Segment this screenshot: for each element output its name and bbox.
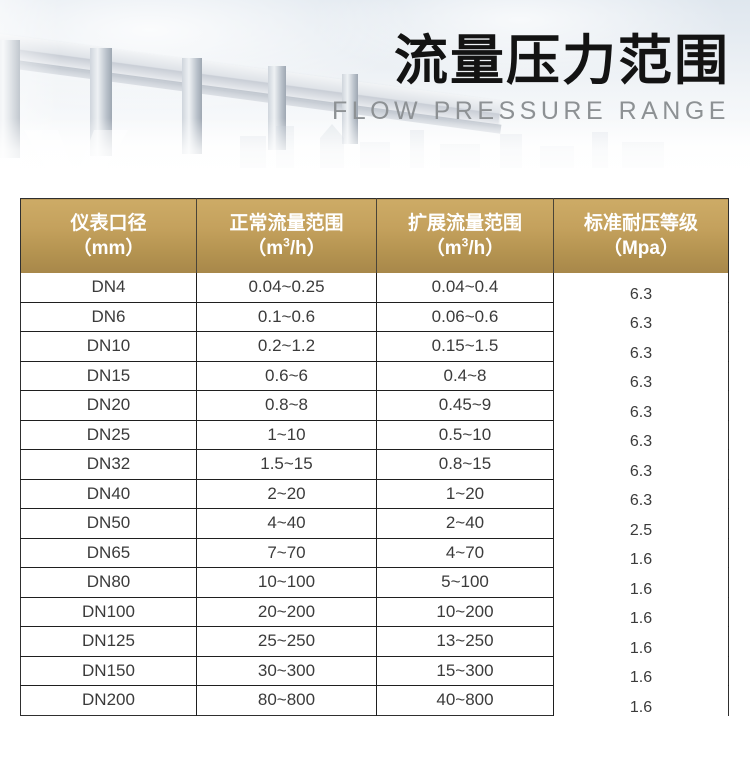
cell-pressure-rating: 6.3 <box>554 276 729 305</box>
cell-pressure-rating: 1.6 <box>554 689 729 719</box>
cell-meter-size: DN32 <box>21 450 197 480</box>
cell-normal-flow: 30~300 <box>197 656 377 686</box>
page-root: 流量压力范围 FLOW PRESSURE RANGE 仪表口径 （mm） 正常流… <box>0 0 750 760</box>
cell-extended-flow: 13~250 <box>377 627 554 657</box>
cell-extended-flow: 0.06~0.6 <box>377 302 554 332</box>
cell-pressure-rating: 1.6 <box>554 571 729 601</box>
column-header-name: 标准耐压等级 <box>584 213 698 234</box>
cell-normal-flow: 20~200 <box>197 597 377 627</box>
cell-meter-size: DN100 <box>21 597 197 627</box>
table-row: DN12525~25013~2501.6 <box>21 627 729 657</box>
table-row: DN10020~20010~2001.6 <box>21 597 729 627</box>
column-header-unit: （Mpa） <box>554 236 728 261</box>
cell-extended-flow: 0.45~9 <box>377 391 554 421</box>
cell-extended-flow: 40~800 <box>377 686 554 716</box>
banner-text-block: 流量压力范围 FLOW PRESSURE RANGE <box>332 34 730 126</box>
cell-extended-flow: 0.04~0.4 <box>377 273 554 302</box>
cell-normal-flow: 80~800 <box>197 686 377 716</box>
table-row: DN40.04~0.250.04~0.46.3 <box>21 273 729 302</box>
column-header-name: 仪表口径 <box>70 213 146 234</box>
column-header-name: 扩展流量范围 <box>408 213 522 234</box>
cell-meter-size: DN200 <box>21 686 197 716</box>
table-row: DN200.8~80.45~96.3 <box>21 391 729 421</box>
cell-meter-size: DN10 <box>21 332 197 362</box>
table-row: DN657~704~701.6 <box>21 538 729 568</box>
cell-normal-flow: 1.5~15 <box>197 450 377 480</box>
cell-meter-size: DN80 <box>21 568 197 598</box>
table-row: DN15030~30015~3001.6 <box>21 656 729 686</box>
cell-normal-flow: 0.1~0.6 <box>197 302 377 332</box>
cell-meter-size: DN50 <box>21 509 197 539</box>
cell-meter-size: DN4 <box>21 273 197 302</box>
table-row: DN60.1~0.60.06~0.66.3 <box>21 302 729 332</box>
cell-normal-flow: 25~250 <box>197 627 377 657</box>
cell-extended-flow: 0.4~8 <box>377 361 554 391</box>
cell-meter-size: DN40 <box>21 479 197 509</box>
page-title-en: FLOW PRESSURE RANGE <box>332 97 730 126</box>
cell-pressure-rating: 1.6 <box>554 630 729 660</box>
cell-pressure-rating: 2.5 <box>554 512 729 542</box>
table-row: DN251~100.5~106.3 <box>21 420 729 450</box>
cell-normal-flow: 0.6~6 <box>197 361 377 391</box>
banner-header: 流量压力范围 FLOW PRESSURE RANGE <box>0 0 750 190</box>
cell-meter-size: DN6 <box>21 302 197 332</box>
spec-table-wrapper: 仪表口径 （mm） 正常流量范围 （m3/h） 扩展流量范围 （m3/h） 标准… <box>20 198 728 716</box>
cell-pressure-rating: 6.3 <box>554 364 729 394</box>
cell-extended-flow: 5~100 <box>377 568 554 598</box>
cell-extended-flow: 1~20 <box>377 479 554 509</box>
cell-meter-size: DN25 <box>21 420 197 450</box>
column-header-name: 正常流量范围 <box>229 213 343 234</box>
cell-normal-flow: 7~70 <box>197 538 377 568</box>
page-title-cn: 流量压力范围 <box>332 34 730 89</box>
cell-pressure-rating: 6.3 <box>554 453 729 483</box>
cell-normal-flow: 0.04~0.25 <box>197 273 377 302</box>
column-header-meter-size: 仪表口径 （mm） <box>21 199 197 274</box>
cell-extended-flow: 0.5~10 <box>377 420 554 450</box>
table-row: DN20080~80040~8001.6 <box>21 686 729 716</box>
cell-pressure-rating: 6.3 <box>554 482 729 512</box>
cell-pressure-rating: 6.3 <box>554 394 729 424</box>
cell-meter-size: DN20 <box>21 391 197 421</box>
table-head: 仪表口径 （mm） 正常流量范围 （m3/h） 扩展流量范围 （m3/h） 标准… <box>21 199 729 274</box>
cell-normal-flow: 0.2~1.2 <box>197 332 377 362</box>
cell-normal-flow: 10~100 <box>197 568 377 598</box>
table-row: DN402~201~206.3 <box>21 479 729 509</box>
cell-pressure-rating: 1.6 <box>554 600 729 630</box>
column-header-extended-flow-range: 扩展流量范围 （m3/h） <box>377 199 554 274</box>
flow-pressure-range-table: 仪表口径 （mm） 正常流量范围 （m3/h） 扩展流量范围 （m3/h） 标准… <box>20 198 729 716</box>
table-row: DN150.6~60.4~86.3 <box>21 361 729 391</box>
column-header-unit: （mm） <box>21 236 196 261</box>
cell-extended-flow: 4~70 <box>377 538 554 568</box>
cell-extended-flow: 0.15~1.5 <box>377 332 554 362</box>
cell-extended-flow: 2~40 <box>377 509 554 539</box>
column-header-normal-flow-range: 正常流量范围 （m3/h） <box>197 199 377 274</box>
cell-meter-size: DN15 <box>21 361 197 391</box>
cell-meter-size: DN125 <box>21 627 197 657</box>
cell-pressure-rating: 6.3 <box>554 423 729 453</box>
banner-bottom-fade <box>0 118 750 190</box>
cell-pressure-rating: 6.3 <box>554 305 729 335</box>
cell-normal-flow: 1~10 <box>197 420 377 450</box>
cell-extended-flow: 15~300 <box>377 656 554 686</box>
cell-meter-size: DN65 <box>21 538 197 568</box>
table-row: DN100.2~1.20.15~1.56.3 <box>21 332 729 362</box>
cell-pressure-rating: 1.6 <box>554 541 729 571</box>
column-header-unit: （m3/h） <box>377 236 553 261</box>
cell-normal-flow: 0.8~8 <box>197 391 377 421</box>
column-header-unit: （m3/h） <box>197 236 376 261</box>
cell-normal-flow: 2~20 <box>197 479 377 509</box>
table-body: DN40.04~0.250.04~0.46.3DN60.1~0.60.06~0.… <box>21 273 729 715</box>
table-header-row: 仪表口径 （mm） 正常流量范围 （m3/h） 扩展流量范围 （m3/h） 标准… <box>21 199 729 274</box>
cell-meter-size: DN150 <box>21 656 197 686</box>
table-row: DN321.5~150.8~156.3 <box>21 450 729 480</box>
cell-pressure-rating: 1.6 <box>554 659 729 689</box>
table-row: DN8010~1005~1001.6 <box>21 568 729 598</box>
cell-extended-flow: 10~200 <box>377 597 554 627</box>
cell-normal-flow: 4~40 <box>197 509 377 539</box>
table-row: DN504~402~402.5 <box>21 509 729 539</box>
column-header-standard-pressure-rating: 标准耐压等级 （Mpa） <box>554 199 729 274</box>
cell-extended-flow: 0.8~15 <box>377 450 554 480</box>
cell-pressure-rating: 6.3 <box>554 335 729 365</box>
